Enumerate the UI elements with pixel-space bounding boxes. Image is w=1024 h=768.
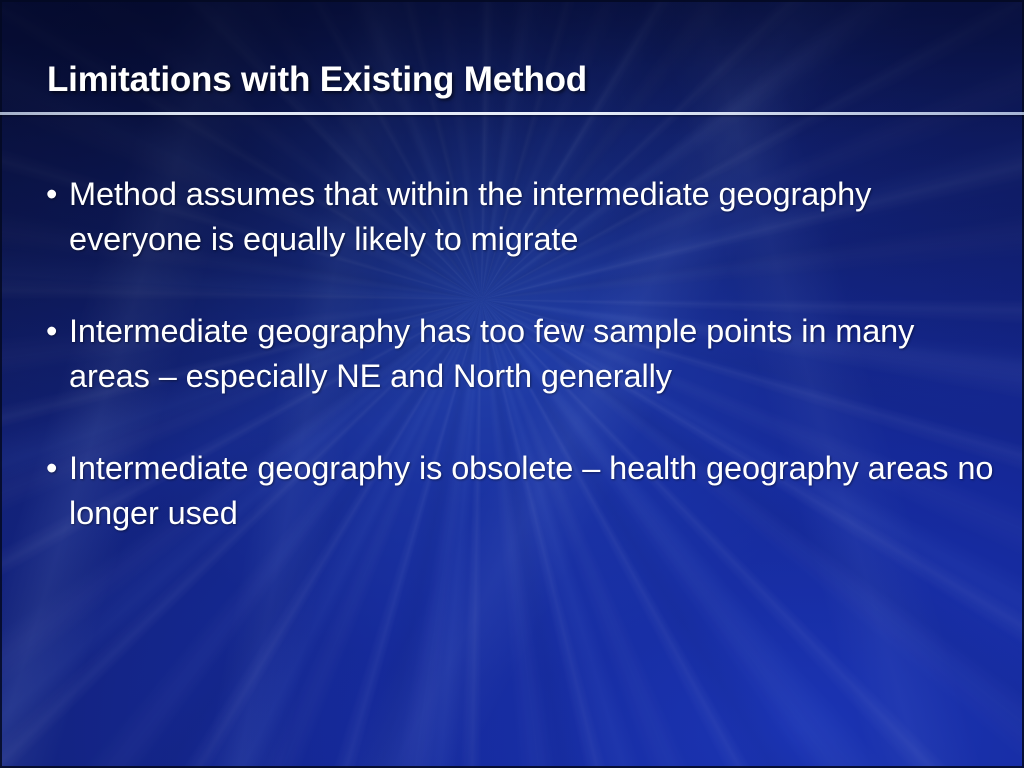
presentation-slide: Limitations with Existing Method • Metho… <box>0 0 1024 768</box>
bullet-marker-icon: • <box>46 172 66 217</box>
bullet-list: • Method assumes that within the interme… <box>44 172 994 536</box>
bullet-item-3: • Intermediate geography is obsolete – h… <box>44 446 994 536</box>
bullet-item-1: • Method assumes that within the interme… <box>44 172 994 262</box>
slide-content: Limitations with Existing Method • Metho… <box>0 0 1024 768</box>
bullet-marker-icon: • <box>46 446 66 491</box>
bullet-marker-icon: • <box>46 309 66 354</box>
bullet-text-1: Method assumes that within the intermedi… <box>69 172 994 262</box>
bullet-item-2: • Intermediate geography has too few sam… <box>44 309 994 399</box>
bullet-text-3: Intermediate geography is obsolete – hea… <box>69 446 994 536</box>
title-divider-rule <box>0 112 1024 115</box>
bullet-text-2: Intermediate geography has too few sampl… <box>69 309 994 399</box>
slide-title: Limitations with Existing Method <box>47 60 977 99</box>
